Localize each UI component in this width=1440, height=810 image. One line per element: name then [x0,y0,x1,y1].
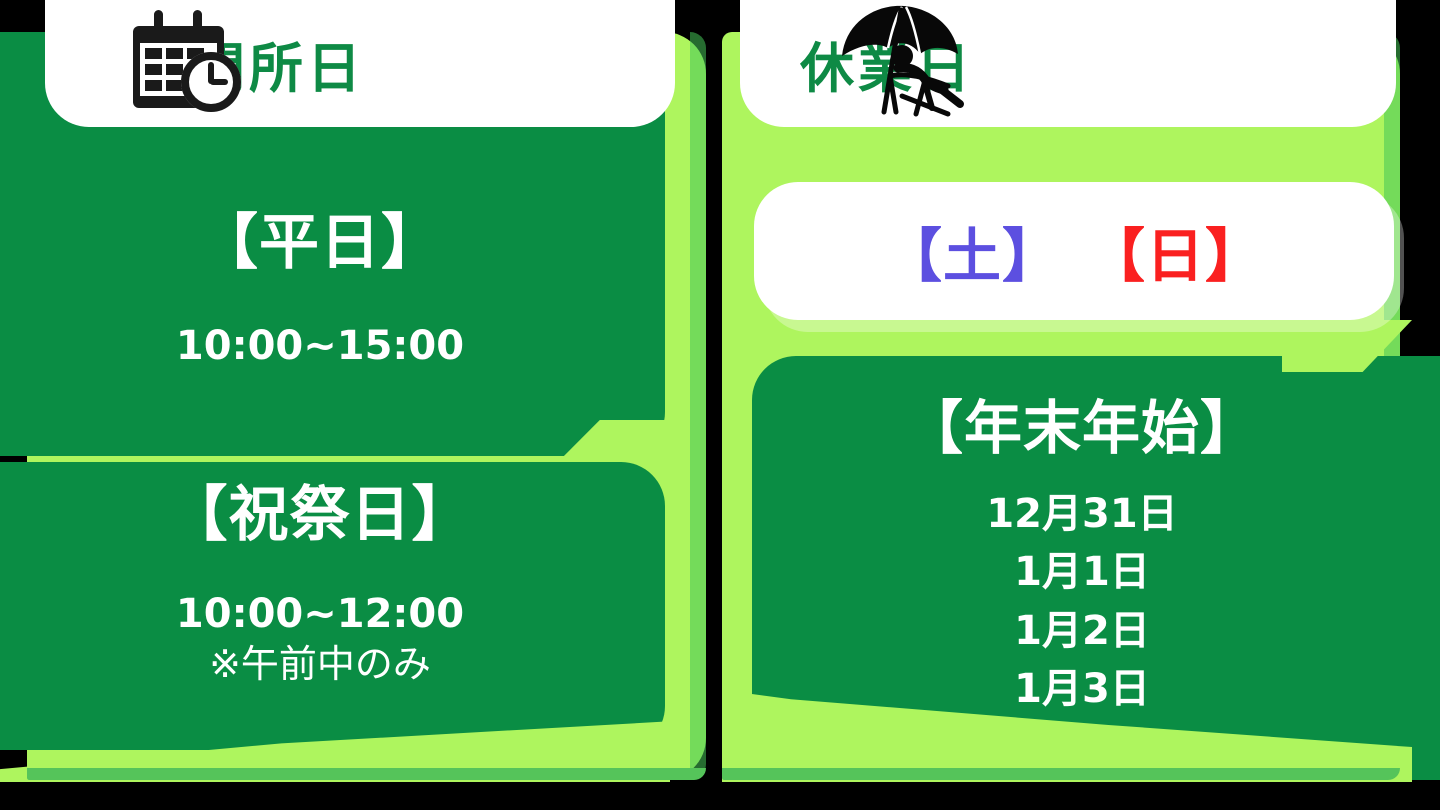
beach-umbrella-lounger-icon [832,4,972,120]
newyear-date-list: 12月31日 1月1日 1月2日 1月3日 [752,485,1412,719]
newyear-date: 1月2日 [752,602,1412,660]
weekday-heading: 【平日】 [0,212,640,275]
holiday-note: ※午前中のみ [0,640,640,689]
open-days-panel: 開所日 【平日】 10:00~15:00 【祝祭日】 10:00~12:00 ※… [0,0,710,810]
right-bottom-shade [722,768,1400,780]
closed-days-header: 休業日 [740,0,1396,127]
sunday-label: 【日】 [1087,209,1264,293]
saturday-label: 【土】 [884,209,1061,293]
newyear-date: 1月3日 [752,660,1412,718]
holiday-heading: 【祝祭日】 [0,484,640,547]
open-days-header: 開所日 [45,0,675,127]
calendar-clock-icon [131,10,251,118]
weekday-hours: 10:00~15:00 [0,321,640,372]
left-bottom-shade [27,768,706,780]
newyear-heading: 【年末年始】 [752,398,1412,459]
weekend-pill: 【土】 【日】 [754,182,1394,320]
closed-days-panel: 休業日 【土】 【日】 【年末年始】 12月31日 1月1日 1月2日 1月3日 [722,0,1440,810]
holiday-block: 【祝祭日】 10:00~12:00 ※午前中のみ [0,484,640,689]
newyear-block: 【年末年始】 12月31日 1月1日 1月2日 1月3日 [752,398,1412,718]
weekday-block: 【平日】 10:00~15:00 [0,212,640,372]
newyear-date: 12月31日 [752,485,1412,543]
holiday-hours: 10:00~12:00 [0,589,640,640]
newyear-date: 1月1日 [752,543,1412,601]
infographic-stage: 開所日 【平日】 10:00~15:00 【祝祭日】 10:00~12:00 ※… [0,0,1440,810]
left-panel-backing-edge [690,32,706,780]
